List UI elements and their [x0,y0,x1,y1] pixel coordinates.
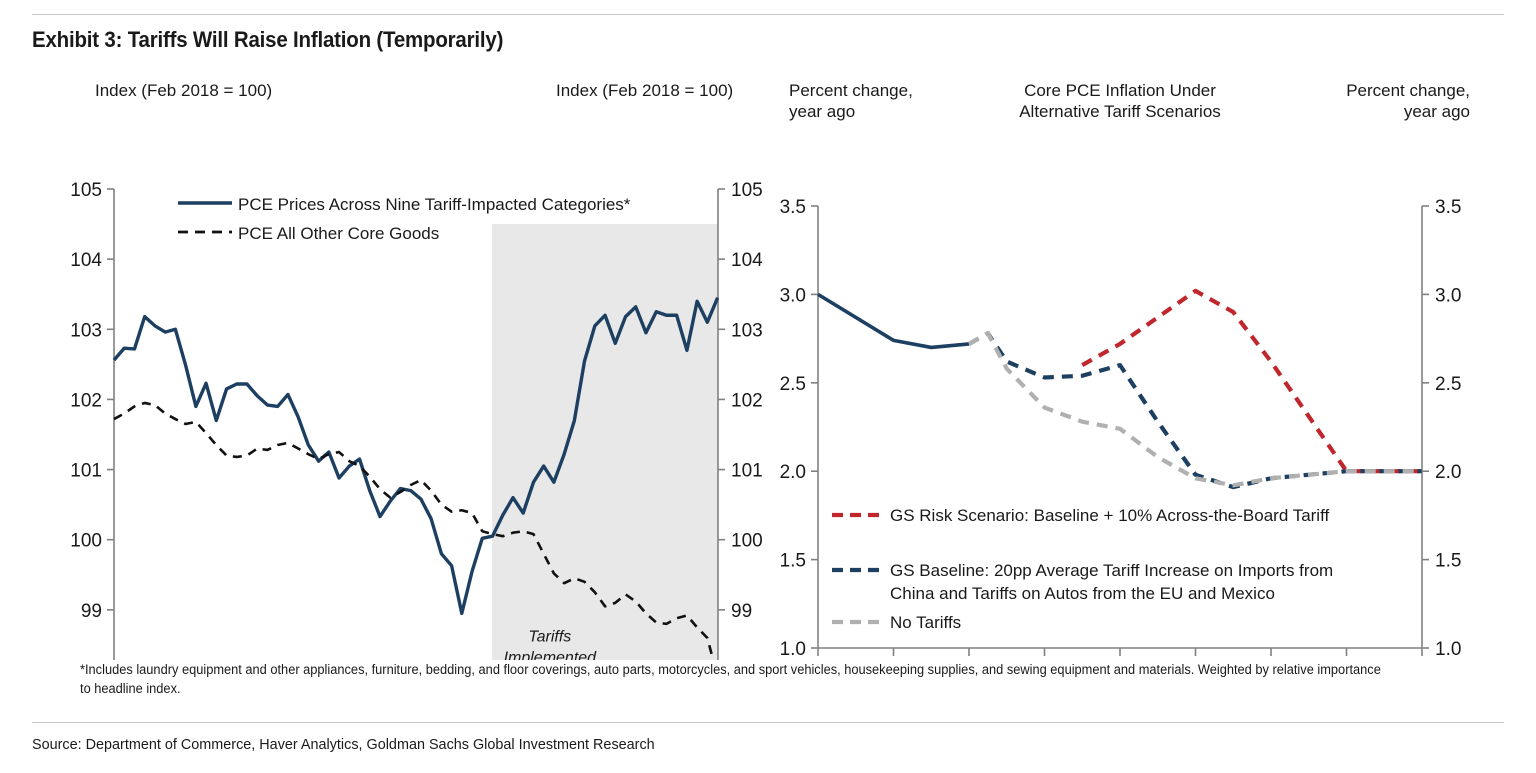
left-y-tick-label: 101 [70,461,102,482]
series-line-no-tariffs [969,333,1422,485]
left-y-tick-label: 100 [70,531,102,552]
right-panel-y-tick-label-left: 2.5 [780,374,806,395]
legend-label-gs-risk-scenario: GS Risk Scenario: Baseline + 10% Across-… [890,506,1329,525]
tariffs-implemented-annotation: Implemented [504,649,598,660]
series-line-history [818,294,969,347]
charts-container: 9898999910010010110110210210310310410410… [0,60,1536,660]
right-y-tick-label-left-panel: 105 [731,180,763,201]
left-y-tick-label: 104 [70,250,102,271]
right-panel-title: Core PCE Inflation Under Alternative Tar… [985,80,1255,122]
right-y-tick-label-left-panel: 100 [731,531,763,552]
tariffs-implemented-annotation: Tariffs [528,628,571,645]
right-chart-legend: GS Risk Scenario: Baseline + 10% Across-… [832,506,1333,632]
right-chart: 1.01.01.51.52.02.02.52.53.03.03.53.5Jan-… [780,197,1462,660]
right-y-tick-label-left-panel: 103 [731,320,763,341]
page-title: Exhibit 3: Tariffs Will Raise Inflation … [32,27,503,53]
series-line-gs-risk-scenario [1082,291,1422,471]
right-y-tick-label-left-panel: 99 [731,601,752,622]
bottom-divider [32,722,1504,723]
right-panel-right-axis-title: Percent change, year ago [1305,80,1470,122]
left-panel-right-axis-title: Index (Feb 2018 = 100) [556,80,733,101]
series-line-gs-baseline [969,333,1422,487]
legend-label-no-tariffs: No Tariffs [890,613,961,632]
left-y-tick-label: 102 [70,390,102,411]
top-divider [32,14,1504,15]
left-y-tick-label: 105 [70,180,102,201]
right-y-tick-label-left-panel: 101 [731,461,763,482]
right-panel-y-tick-label-right: 2.0 [1435,462,1461,483]
right-panel-y-tick-label-right: 3.5 [1435,197,1461,218]
right-panel-y-tick-label-left: 3.5 [780,197,806,218]
right-panel-y-tick-label-left: 1.5 [780,551,806,572]
right-y-tick-label-left-panel: 102 [731,390,763,411]
tariff-shaded-region [492,224,718,660]
legend-label-tariff-impacted: PCE Prices Across Nine Tariff-Impacted C… [238,195,631,214]
right-panel-y-tick-label-left: 1.0 [780,639,806,660]
legend-label-all-other-core-goods: PCE All Other Core Goods [238,224,439,243]
exhibit-figure: 9898999910010010110110210210310310410410… [0,60,1536,660]
left-y-tick-label: 99 [81,601,102,622]
right-panel-y-tick-label-right: 1.0 [1435,639,1461,660]
right-panel-y-tick-label-right: 3.0 [1435,285,1461,306]
right-panel-y-tick-label-right: 2.5 [1435,374,1461,395]
source-line: Source: Department of Commerce, Haver An… [32,736,655,753]
right-y-tick-label-left-panel: 104 [731,250,763,271]
right-panel-left-axis-title: Percent change, year ago [789,80,913,122]
left-y-tick-label: 103 [70,320,102,341]
right-panel-y-tick-label-left: 2.0 [780,462,806,483]
legend-label-gs-baseline: China and Tariffs on Autos from the EU a… [890,584,1275,603]
left-chart: 9898999910010010110110210210310310410410… [70,180,763,660]
right-panel-y-tick-label-right: 1.5 [1435,551,1461,572]
right-panel-y-tick-label-left: 3.0 [780,285,806,306]
left-panel-left-axis-title: Index (Feb 2018 = 100) [95,80,272,101]
legend-label-gs-baseline: GS Baseline: 20pp Average Tariff Increas… [890,561,1333,580]
footnote: *Includes laundry equipment and other ap… [80,660,1391,698]
